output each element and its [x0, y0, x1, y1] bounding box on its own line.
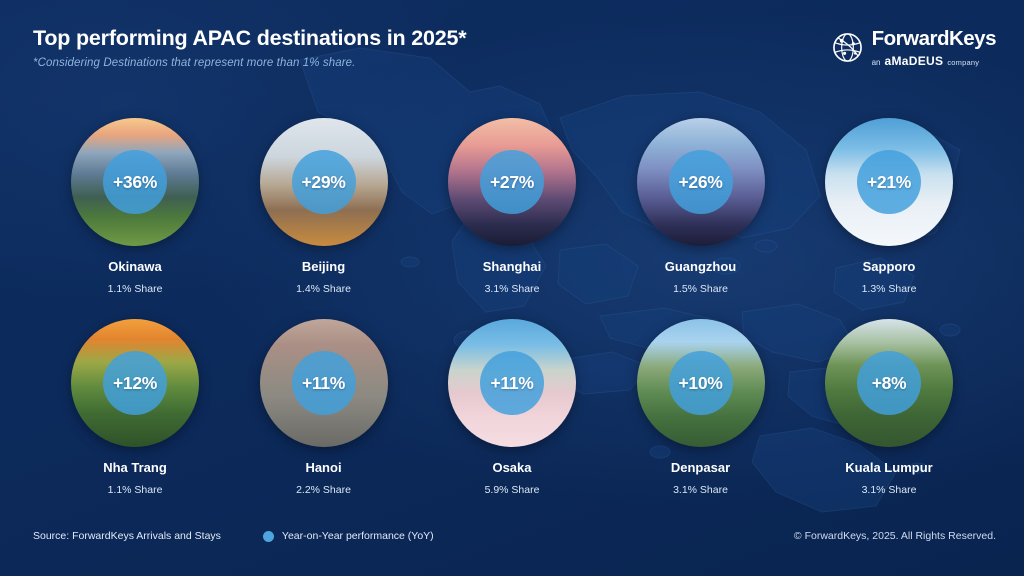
destination-share: 1.4% Share — [296, 283, 351, 295]
growth-badge: +11% — [292, 351, 356, 415]
destination-card[interactable]: +8%Kuala Lumpur3.1% Share — [814, 319, 964, 496]
destination-share: 5.9% Share — [485, 484, 540, 496]
destination-photo: +27% — [448, 118, 576, 246]
destination-name: Okinawa — [108, 259, 161, 274]
destination-name: Beijing — [302, 259, 345, 274]
destination-photo: +11% — [260, 319, 388, 447]
destination-share: 3.1% Share — [862, 484, 917, 496]
footer: Source: ForwardKeys Arrivals and Stays Y… — [33, 530, 996, 542]
destination-card[interactable]: +10%Denpasar3.1% Share — [626, 319, 776, 496]
destinations-row: +12%Nha Trang1.1% Share+11%Hanoi2.2% Sha… — [60, 319, 964, 496]
logo-amadeus-text: aMaDEUS — [885, 55, 944, 67]
destination-share: 3.1% Share — [485, 283, 540, 295]
destination-name: Osaka — [492, 460, 531, 475]
destination-photo: +11% — [448, 319, 576, 447]
destinations-row: +36%Okinawa1.1% Share+29%Beijing1.4% Sha… — [60, 118, 964, 295]
globe-network-icon — [832, 32, 863, 63]
growth-badge: +12% — [103, 351, 167, 415]
destination-share: 3.1% Share — [673, 484, 728, 496]
destination-name: Sapporo — [863, 259, 916, 274]
destination-card[interactable]: +11%Osaka5.9% Share — [437, 319, 587, 496]
page-subtitle: *Considering Destinations that represent… — [33, 57, 466, 69]
destination-share: 2.2% Share — [296, 484, 351, 496]
logo-wordmark: ForwardKeys — [872, 29, 996, 50]
legend-label: Year-on-Year performance (YoY) — [282, 530, 434, 542]
growth-badge: +8% — [857, 351, 921, 415]
destination-card[interactable]: +21%Sapporo1.3% Share — [814, 118, 964, 295]
destination-name: Hanoi — [305, 460, 341, 475]
destination-name: Shanghai — [483, 259, 542, 274]
header: Top performing APAC destinations in 2025… — [33, 26, 466, 69]
logo-an-text: an — [872, 59, 881, 67]
destination-name: Kuala Lumpur — [845, 460, 932, 475]
destination-photo: +29% — [260, 118, 388, 246]
destination-photo: +8% — [825, 319, 953, 447]
destination-card[interactable]: +27%Shanghai3.1% Share — [437, 118, 587, 295]
destination-card[interactable]: +36%Okinawa1.1% Share — [60, 118, 210, 295]
logo-tagline: an aMaDEUS company — [872, 55, 996, 67]
destination-share: 1.3% Share — [862, 283, 917, 295]
growth-badge: +36% — [103, 150, 167, 214]
growth-badge: +11% — [480, 351, 544, 415]
growth-badge: +21% — [857, 150, 921, 214]
legend: Year-on-Year performance (YoY) — [263, 530, 434, 542]
destinations-grid: +36%Okinawa1.1% Share+29%Beijing1.4% Sha… — [0, 118, 1024, 496]
destination-photo: +36% — [71, 118, 199, 246]
logo-company-text: company — [947, 59, 979, 67]
destination-photo: +26% — [637, 118, 765, 246]
destination-photo: +12% — [71, 319, 199, 447]
growth-badge: +27% — [480, 150, 544, 214]
destination-name: Denpasar — [671, 460, 730, 475]
destination-name: Nha Trang — [103, 460, 167, 475]
destination-share: 1.1% Share — [108, 484, 163, 496]
destination-photo: +21% — [825, 118, 953, 246]
infographic-canvas: Top performing APAC destinations in 2025… — [0, 0, 1024, 576]
destination-share: 1.5% Share — [673, 283, 728, 295]
copyright-note: © ForwardKeys, 2025. All Rights Reserved… — [794, 530, 996, 542]
growth-badge: +29% — [292, 150, 356, 214]
growth-badge: +26% — [669, 150, 733, 214]
destination-card[interactable]: +29%Beijing1.4% Share — [249, 118, 399, 295]
destination-card[interactable]: +11%Hanoi2.2% Share — [249, 319, 399, 496]
destination-photo: +10% — [637, 319, 765, 447]
legend-dot-icon — [263, 531, 274, 542]
growth-badge: +10% — [669, 351, 733, 415]
page-title: Top performing APAC destinations in 2025… — [33, 26, 466, 51]
destination-share: 1.1% Share — [108, 283, 163, 295]
destination-card[interactable]: +26%Guangzhou1.5% Share — [626, 118, 776, 295]
destination-card[interactable]: +12%Nha Trang1.1% Share — [60, 319, 210, 496]
destination-name: Guangzhou — [665, 259, 737, 274]
forwardkeys-logo: ForwardKeys an aMaDEUS company — [832, 29, 996, 67]
source-note: Source: ForwardKeys Arrivals and Stays — [33, 530, 221, 542]
